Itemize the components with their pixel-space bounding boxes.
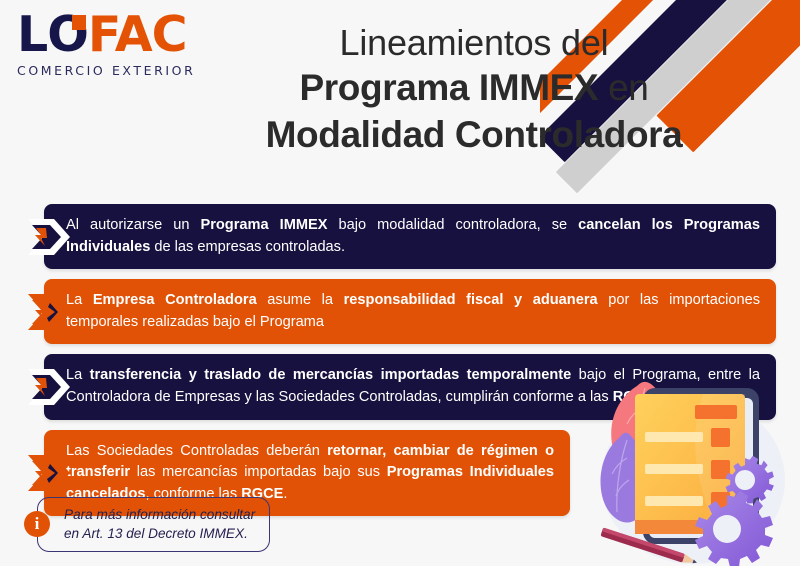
footer-note-line-2: en Art. 13 del Decreto IMMEX. bbox=[64, 524, 255, 543]
bullet-row: La Empresa Controladora asume la respons… bbox=[0, 279, 800, 344]
title-line-2-bold: Programa IMMEX bbox=[300, 67, 599, 108]
title-line-2: Programa IMMEX en bbox=[214, 67, 734, 110]
logo-subtitle: COMERCIO EXTERIOR bbox=[17, 63, 195, 78]
text-segment: responsabilidad fiscal y aduanera bbox=[344, 292, 598, 308]
chevron-arrow-icon bbox=[26, 290, 72, 334]
bullet-row-text: La Empresa Controladora asume la respons… bbox=[44, 279, 776, 344]
text-segment: las mercancías importadas bajo sus bbox=[130, 464, 387, 480]
footer-note-line-1: Para más información consultar bbox=[64, 505, 255, 524]
bullet-row-text: Al autorizarse un Programa IMMEX bajo mo… bbox=[44, 204, 776, 269]
chevron-arrow-icon bbox=[26, 451, 72, 495]
title-line-1: Lineamientos del bbox=[214, 22, 734, 64]
checklist-line-2 bbox=[645, 464, 703, 474]
chevron-arrow-icon bbox=[26, 215, 72, 259]
logo-wordmark: L O FAC bbox=[17, 12, 195, 59]
text-segment: transferencia y traslado de mercancías i… bbox=[90, 367, 572, 383]
logo-letters-fac: FAC bbox=[88, 12, 187, 59]
logo-letter-o: O bbox=[47, 12, 88, 59]
text-segment: de las empresas controladas. bbox=[150, 239, 345, 255]
text-segment: Empresa Controladora bbox=[93, 292, 257, 308]
text-segment: Las Sociedades Controladas deberán bbox=[66, 443, 327, 459]
chevron-arrow-icon bbox=[26, 365, 72, 409]
checklist-box-1 bbox=[711, 428, 730, 447]
text-segment: bajo modalidad controladora, se bbox=[327, 217, 578, 233]
text-segment: Programa IMMEX bbox=[200, 217, 327, 233]
title-line-3: Modalidad Controladora bbox=[214, 114, 734, 157]
footer-note-text: Para más información consultar en Art. 1… bbox=[37, 497, 270, 552]
title-line-2-rest: en bbox=[598, 67, 648, 108]
page-title: Lineamientos del Programa IMMEX en Modal… bbox=[214, 22, 734, 157]
logo-letter-l: L bbox=[17, 12, 47, 59]
text-segment: asume la bbox=[257, 292, 344, 308]
bullet-row: Al autorizarse un Programa IMMEX bajo mo… bbox=[0, 204, 800, 269]
checklist-line-3 bbox=[645, 496, 703, 506]
text-segment: Al autorizarse un bbox=[66, 217, 200, 233]
clipboard-checklist-gears-illustration bbox=[585, 372, 800, 566]
checklist-line-1 bbox=[645, 432, 703, 442]
brand-logo: L O FAC COMERCIO EXTERIOR bbox=[17, 12, 195, 78]
logo-notch-square bbox=[72, 15, 86, 30]
text-segment: . bbox=[283, 486, 287, 502]
checklist-header-block bbox=[695, 405, 737, 419]
footer-note: i Para más información consultar en Art.… bbox=[24, 497, 270, 552]
